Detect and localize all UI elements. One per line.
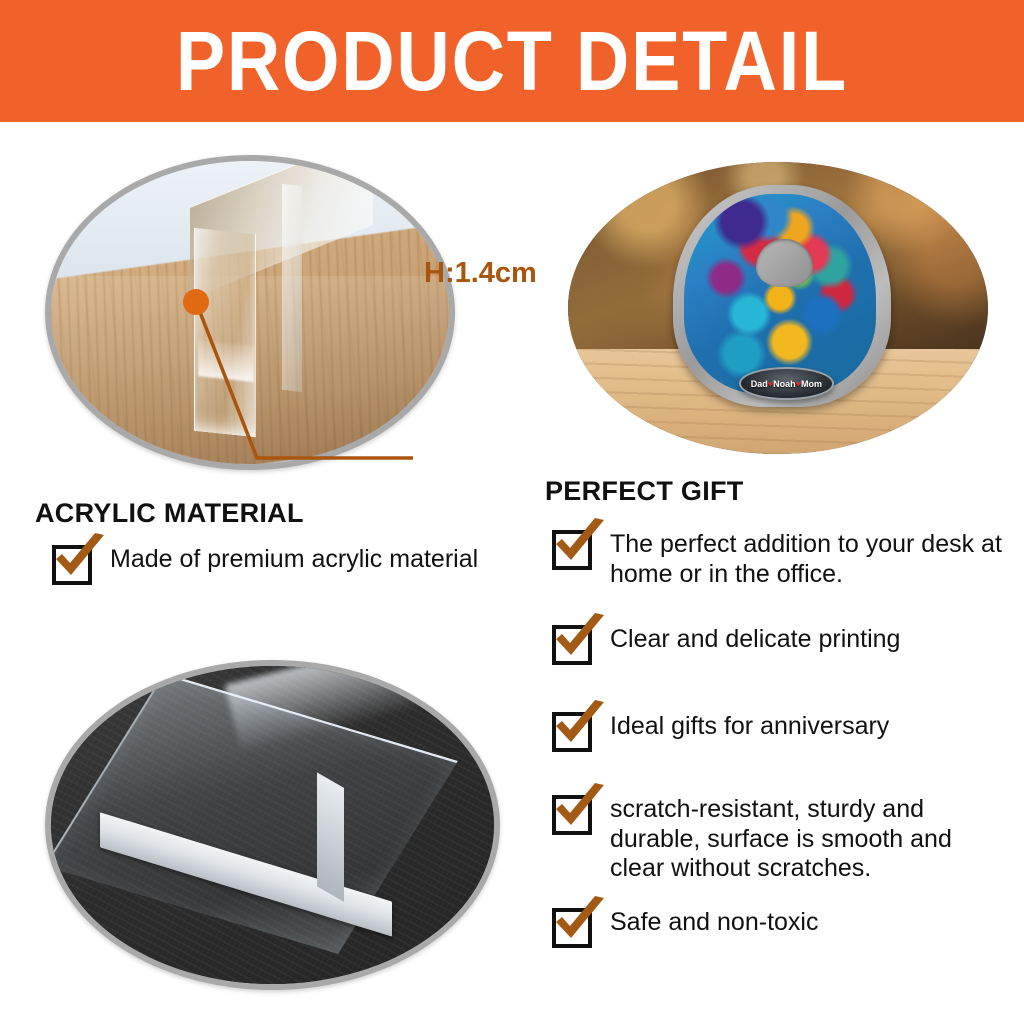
page-title: PRODUCT DETAIL [176, 19, 848, 103]
feature-text: Made of premium acrylic material [110, 545, 478, 575]
check-icon [551, 783, 609, 835]
feature-item-clear-printing: Clear and delicate printing [552, 625, 900, 665]
check-icon [551, 896, 609, 948]
feature-item-scratch-resistant: scratch-resistant, sturdy and durable, s… [552, 795, 1010, 884]
check-icon [551, 700, 609, 752]
leader-polyline [196, 302, 413, 458]
acrylic-material-heading: ACRYLIC MATERIAL [35, 498, 304, 529]
plaque-base-names: Dad♥Noah♥Mom [751, 379, 822, 389]
checkbox-scratch-resistant[interactable] [552, 795, 592, 835]
feature-item-anniversary-gift: Ideal gifts for anniversary [552, 712, 889, 752]
plaque-name-base: Dad♥Noah♥Mom [739, 367, 835, 400]
plaque-center-notch [756, 239, 813, 288]
feature-text: Ideal gifts for anniversary [610, 712, 889, 742]
base-name-dad: Dad [751, 379, 768, 389]
acrylic-block-photo [45, 660, 500, 990]
feature-text: scratch-resistant, sturdy and durable, s… [610, 795, 1010, 884]
check-icon [551, 613, 609, 665]
feature-item-acrylic-material: Made of premium acrylic material [52, 545, 478, 585]
dimension-callout: H:1.4cm [150, 280, 530, 490]
checkbox-clear-printing[interactable] [552, 625, 592, 665]
acrylic-block-right-edge [317, 773, 344, 903]
callout-leader-line [150, 280, 530, 490]
header-banner: PRODUCT DETAIL [0, 0, 1024, 122]
product-detail-infographic: PRODUCT DETAIL Dad♥Noah♥Mom [0, 0, 1024, 1024]
feature-item-non-toxic: Safe and non-toxic [552, 908, 818, 948]
checkbox-non-toxic[interactable] [552, 908, 592, 948]
feature-text: Clear and delicate printing [610, 625, 900, 655]
base-name-mom: Mom [801, 379, 822, 389]
base-name-noah: Noah [773, 379, 796, 389]
checkbox-acrylic-material[interactable] [52, 545, 92, 585]
family-plaque-photo: Dad♥Noah♥Mom [568, 162, 988, 454]
perfect-gift-heading: PERFECT GIFT [545, 476, 744, 507]
feature-text: Safe and non-toxic [610, 908, 818, 938]
plaque-puzzle-artwork [684, 194, 876, 394]
acrylic-plaque: Dad♥Noah♥Mom [673, 185, 891, 407]
callout-point-dot [183, 289, 209, 315]
check-icon [51, 533, 109, 585]
check-icon [551, 518, 609, 570]
feature-item-desk-addition: The perfect addition to your desk at hom… [552, 530, 1010, 589]
dimension-label: H:1.4cm [424, 257, 537, 290]
checkbox-desk-addition[interactable] [552, 530, 592, 570]
checkbox-anniversary-gift[interactable] [552, 712, 592, 752]
feature-text: The perfect addition to your desk at hom… [610, 530, 1010, 589]
